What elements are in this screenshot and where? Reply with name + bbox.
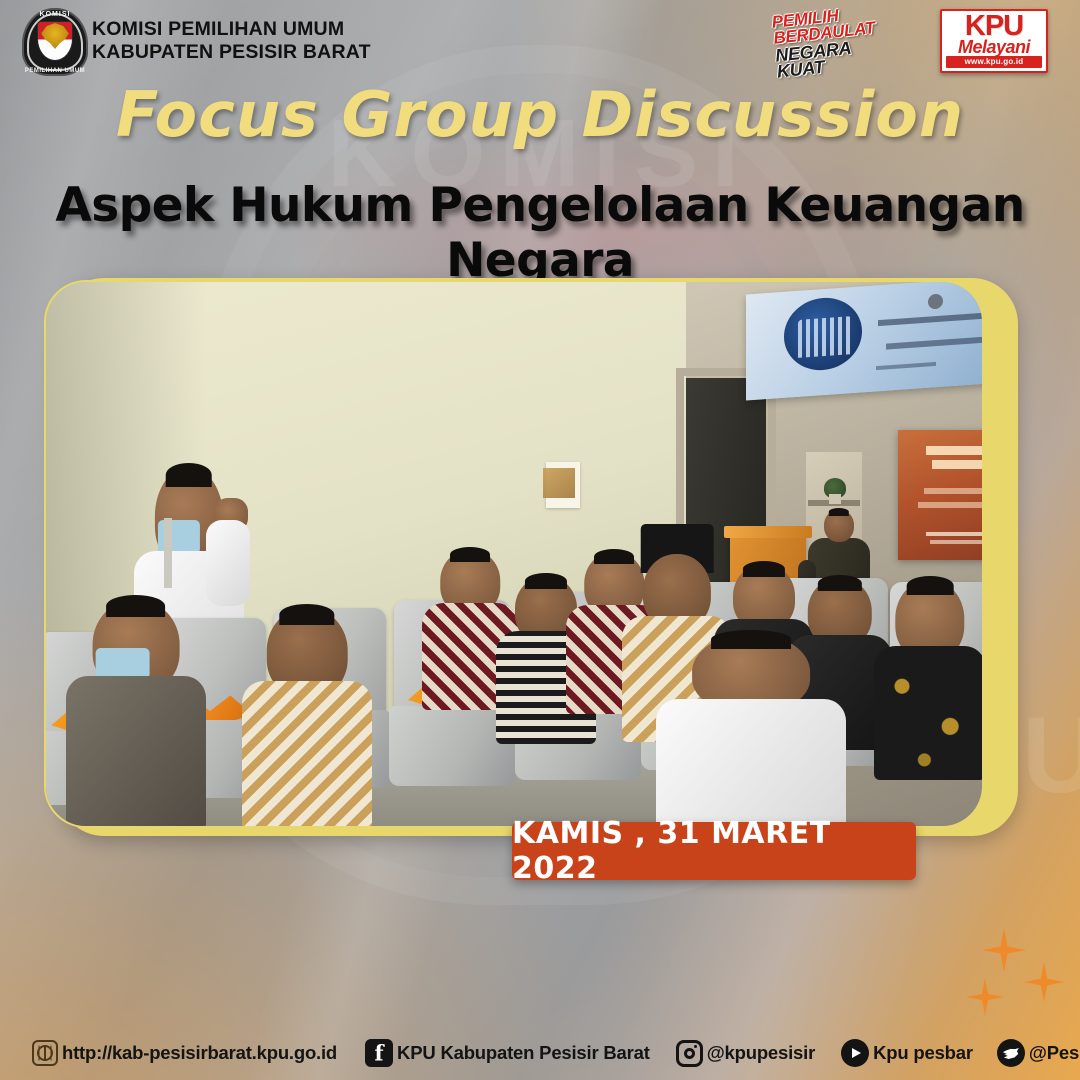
footer-item-facebook[interactable]: KPU Kabupaten Pesisir Barat: [365, 1039, 650, 1067]
photo-speaker-head: [824, 510, 854, 542]
photo-attendee-floral: [874, 580, 984, 780]
photo-presenter-lanyard: [164, 518, 172, 588]
campaign-slogan: PEMILIH BERDAULAT NEGARA KUAT: [771, 3, 887, 76]
photo-screen-line-4: [918, 502, 984, 508]
twitter-icon: [997, 1039, 1025, 1067]
social-media-footer: http://kab-pesisirbarat.kpu.go.id KPU Ka…: [0, 1026, 1080, 1080]
photo-screen-line-1: [926, 446, 984, 455]
sparkle-icon-1: [982, 928, 1026, 972]
photo-foreground-attendee-white: [656, 634, 846, 828]
photo-attendee-hair: [818, 575, 862, 592]
youtube-icon: [841, 1039, 869, 1067]
photo-attendee-body: [656, 699, 846, 828]
photo-presenter-hair: [166, 463, 212, 487]
event-date-text: KAMIS , 31 MARET 2022: [512, 816, 916, 886]
melayani-url: www.kpu.go.id: [946, 56, 1042, 68]
photo-attendee-hair: [743, 561, 785, 577]
photo-speaker-hair: [829, 508, 849, 516]
instagram-icon: [676, 1040, 703, 1067]
footer-twitter-label: @Pesisirkpu: [1029, 1042, 1080, 1064]
photo-attendee-mask: [96, 648, 150, 679]
photo-banner-people-icon: [798, 316, 852, 358]
photo-attendee-hair: [906, 576, 953, 595]
organization-line-1: KOMISI PEMILIHAN UMUM: [92, 18, 371, 41]
photo-podium-top: [724, 526, 812, 538]
organization-name: KOMISI PEMILIHAN UMUM KABUPATEN PESISIR …: [92, 18, 371, 64]
photo-attendee-hair: [106, 595, 165, 617]
sparkle-icon-2: [1024, 962, 1064, 1002]
poster-header: KOMISI PEMILIHAN UMUM KOMISI PEMILIHAN U…: [0, 0, 1080, 82]
photo-attendee-hair: [280, 604, 335, 625]
page-title: Focus Group Discussion: [0, 78, 1080, 151]
emblem-shape: KOMISI PEMILIHAN UMUM: [22, 8, 88, 76]
organization-line-2: KABUPATEN PESISIR BARAT: [92, 41, 371, 64]
emblem-bottom-label: PEMILIHAN UMUM: [22, 68, 88, 74]
photo-attendee-body: [874, 646, 984, 780]
photo-screen-line-6: [930, 540, 984, 544]
footer-website-label: http://kab-pesisirbarat.kpu.go.id: [62, 1042, 337, 1064]
footer-item-youtube[interactable]: Kpu pesbar: [841, 1039, 973, 1067]
footer-facebook-label: KPU Kabupaten Pesisir Barat: [397, 1042, 650, 1064]
photo-screen-line-3: [924, 488, 984, 494]
photo-screen-line-2: [932, 460, 984, 469]
facebook-icon: [365, 1039, 393, 1067]
page-subtitle: Aspek Hukum Pengelolaan Keuangan Negara: [0, 178, 1080, 288]
footer-youtube-label: Kpu pesbar: [873, 1042, 973, 1064]
kpu-emblem-icon: KOMISI PEMILIHAN UMUM: [22, 8, 88, 76]
photo-attendee-hair: [711, 630, 791, 649]
footer-item-website[interactable]: http://kab-pesisirbarat.kpu.go.id: [32, 1040, 337, 1066]
photo-attendee-hair: [525, 573, 567, 589]
photo-plant-pot-1: [829, 494, 841, 504]
event-photo: [44, 280, 984, 828]
footer-instagram-label: @kpupesisir: [707, 1042, 815, 1064]
photo-attendee-body: [66, 676, 206, 828]
photo-attendee-hair: [450, 547, 490, 562]
kpu-melayani-logo: KPU Melayani www.kpu.go.id: [940, 9, 1048, 73]
photo-screen-line-5: [926, 532, 984, 536]
emblem-top-label: KOMISI: [22, 11, 88, 18]
event-date-banner: KAMIS , 31 MARET 2022: [512, 822, 916, 880]
footer-item-instagram[interactable]: @kpupesisir: [676, 1040, 815, 1067]
melayani-tagline: Melayani: [942, 39, 1046, 55]
photo-wall-plaque: [543, 468, 575, 498]
poster-canvas: KOMISI PEMILIHAN UMUM KOMISI PEMILIHAN U…: [0, 0, 1080, 1080]
photo-foreground-attendee-batik: [242, 608, 372, 828]
photo-presenter-arm: [206, 520, 250, 606]
photo-attendee-body: [242, 681, 372, 828]
globe-icon: [32, 1040, 58, 1066]
photo-foreground-attendee-left: [66, 600, 206, 828]
footer-item-twitter[interactable]: @Pesisirkpu: [997, 1039, 1080, 1067]
sparkle-icon-3: [966, 978, 1004, 1016]
